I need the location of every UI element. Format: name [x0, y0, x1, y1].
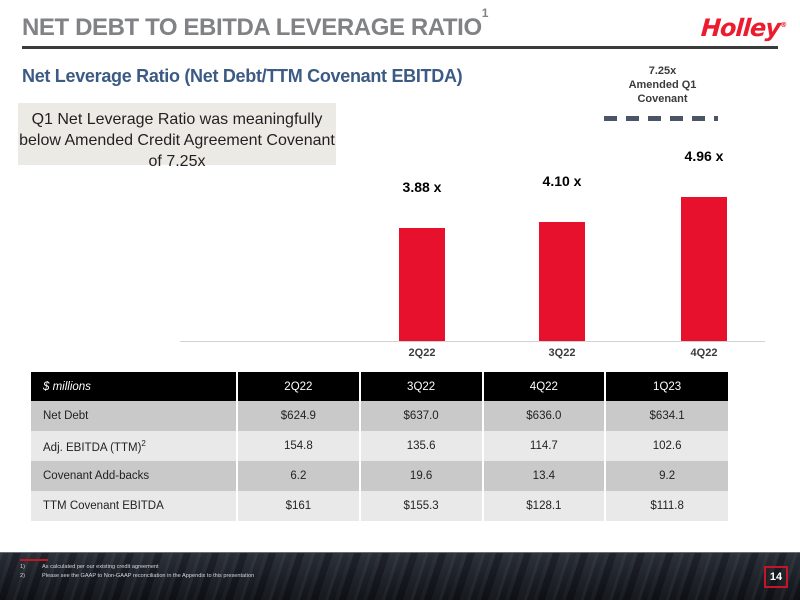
x-axis-label-3q22: 3Q22: [517, 347, 607, 359]
footer-top-divider: [0, 552, 800, 553]
covenant-threshold-line: [604, 116, 718, 121]
x-axis-label-4q22: 4Q22: [659, 347, 749, 359]
table-col-header-1q23: 1Q23: [605, 372, 728, 401]
title-divider: [22, 46, 778, 49]
covenant-annotation: 7.25x Amended Q1 Covenant: [600, 64, 725, 106]
table-cell: $111.8: [605, 491, 728, 521]
table-cell: $155.3: [360, 491, 483, 521]
table-row: TTM Covenant EBITDA$161$155.3$128.1$111.…: [31, 491, 728, 521]
table-col-header-4q22: 4Q22: [483, 372, 606, 401]
footnote-text: Please see the GAAP to Non-GAAP reconcil…: [42, 573, 254, 579]
x-axis-label-2q22: 2Q22: [377, 347, 467, 359]
table-cell: $636.0: [483, 401, 606, 431]
table-cell: $624.9: [237, 401, 360, 431]
table-row-label: Adj. EBITDA (TTM)2: [31, 431, 237, 461]
chart-subheading: Net Leverage Ratio (Net Debt/TTM Covenan…: [22, 66, 462, 87]
footnotes: 1)As calculated per our existing credit …: [20, 563, 254, 581]
covenant-line2: Amended Q1: [600, 78, 725, 92]
bar-4q22: [681, 197, 727, 341]
footnote-number: 1): [20, 563, 42, 572]
table-col-header-2q22: 2Q22: [237, 372, 360, 401]
table-header-row: $ millions2Q223Q224Q221Q23: [31, 372, 728, 401]
chart-baseline-axis: [180, 341, 765, 342]
table-cell: $634.1: [605, 401, 728, 431]
table-row-label: Covenant Add-backs: [31, 461, 237, 491]
bar-chart: 3.88 x2Q224.10 x3Q224.96 x4Q225.67 x1Q23: [180, 140, 780, 370]
trademark-icon: ®: [780, 21, 787, 29]
table-cell: 154.8: [237, 431, 360, 461]
bar-value-label-4q22: 4.96 x: [659, 148, 749, 164]
table-cell: $637.0: [360, 401, 483, 431]
footnote-divider: [20, 559, 48, 561]
table-body: Net Debt$624.9$637.0$636.0$634.1Adj. EBI…: [31, 401, 728, 521]
footnote-item: 1)As calculated per our existing credit …: [20, 563, 254, 572]
bar-2q22: [399, 228, 445, 341]
table-row-label: Net Debt: [31, 401, 237, 431]
page-title-footnote-marker: 1: [482, 6, 488, 20]
footnote-text: As calculated per our existing credit ag…: [42, 564, 159, 570]
table-row: Net Debt$624.9$637.0$636.0$634.1: [31, 401, 728, 431]
page-number-badge: 14: [764, 566, 788, 588]
table-row-label: TTM Covenant EBITDA: [31, 491, 237, 521]
holley-logo-text: Holley: [700, 14, 781, 42]
table-header: $ millions2Q223Q224Q221Q23: [31, 372, 728, 401]
table-cell: 19.6: [360, 461, 483, 491]
table-row: Covenant Add-backs6.219.613.49.2: [31, 461, 728, 491]
table-cell: 114.7: [483, 431, 606, 461]
footnote-item: 2)Please see the GAAP to Non-GAAP reconc…: [20, 572, 254, 581]
table-cell: 135.6: [360, 431, 483, 461]
holley-logo: Holley®: [700, 14, 787, 42]
bar-3q22: [539, 222, 585, 341]
covenant-line3: Covenant: [600, 92, 725, 106]
table-cell: 9.2: [605, 461, 728, 491]
page-title: NET DEBT TO EBITDA LEVERAGE RATIO1: [22, 14, 488, 42]
footer-band: 1)As calculated per our existing credit …: [0, 552, 800, 600]
table-cell: $128.1: [483, 491, 606, 521]
slide: NET DEBT TO EBITDA LEVERAGE RATIO1 Holle…: [0, 0, 800, 600]
footnote-number: 2): [20, 572, 42, 581]
table-row: Adj. EBITDA (TTM)2154.8135.6114.7102.6: [31, 431, 728, 461]
table-cell: 102.6: [605, 431, 728, 461]
page-title-text: NET DEBT TO EBITDA LEVERAGE RATIO: [22, 14, 482, 41]
covenant-value: 7.25x: [600, 64, 725, 78]
table-col-header-3q22: 3Q22: [360, 372, 483, 401]
bar-value-label-2q22: 3.88 x: [377, 179, 467, 195]
table-col-header-units: $ millions: [31, 372, 237, 401]
financial-table: $ millions2Q223Q224Q221Q23 Net Debt$624.…: [31, 372, 728, 521]
table-cell: 13.4: [483, 461, 606, 491]
table-cell: 6.2: [237, 461, 360, 491]
table-cell: $161: [237, 491, 360, 521]
bar-value-label-3q22: 4.10 x: [517, 173, 607, 189]
